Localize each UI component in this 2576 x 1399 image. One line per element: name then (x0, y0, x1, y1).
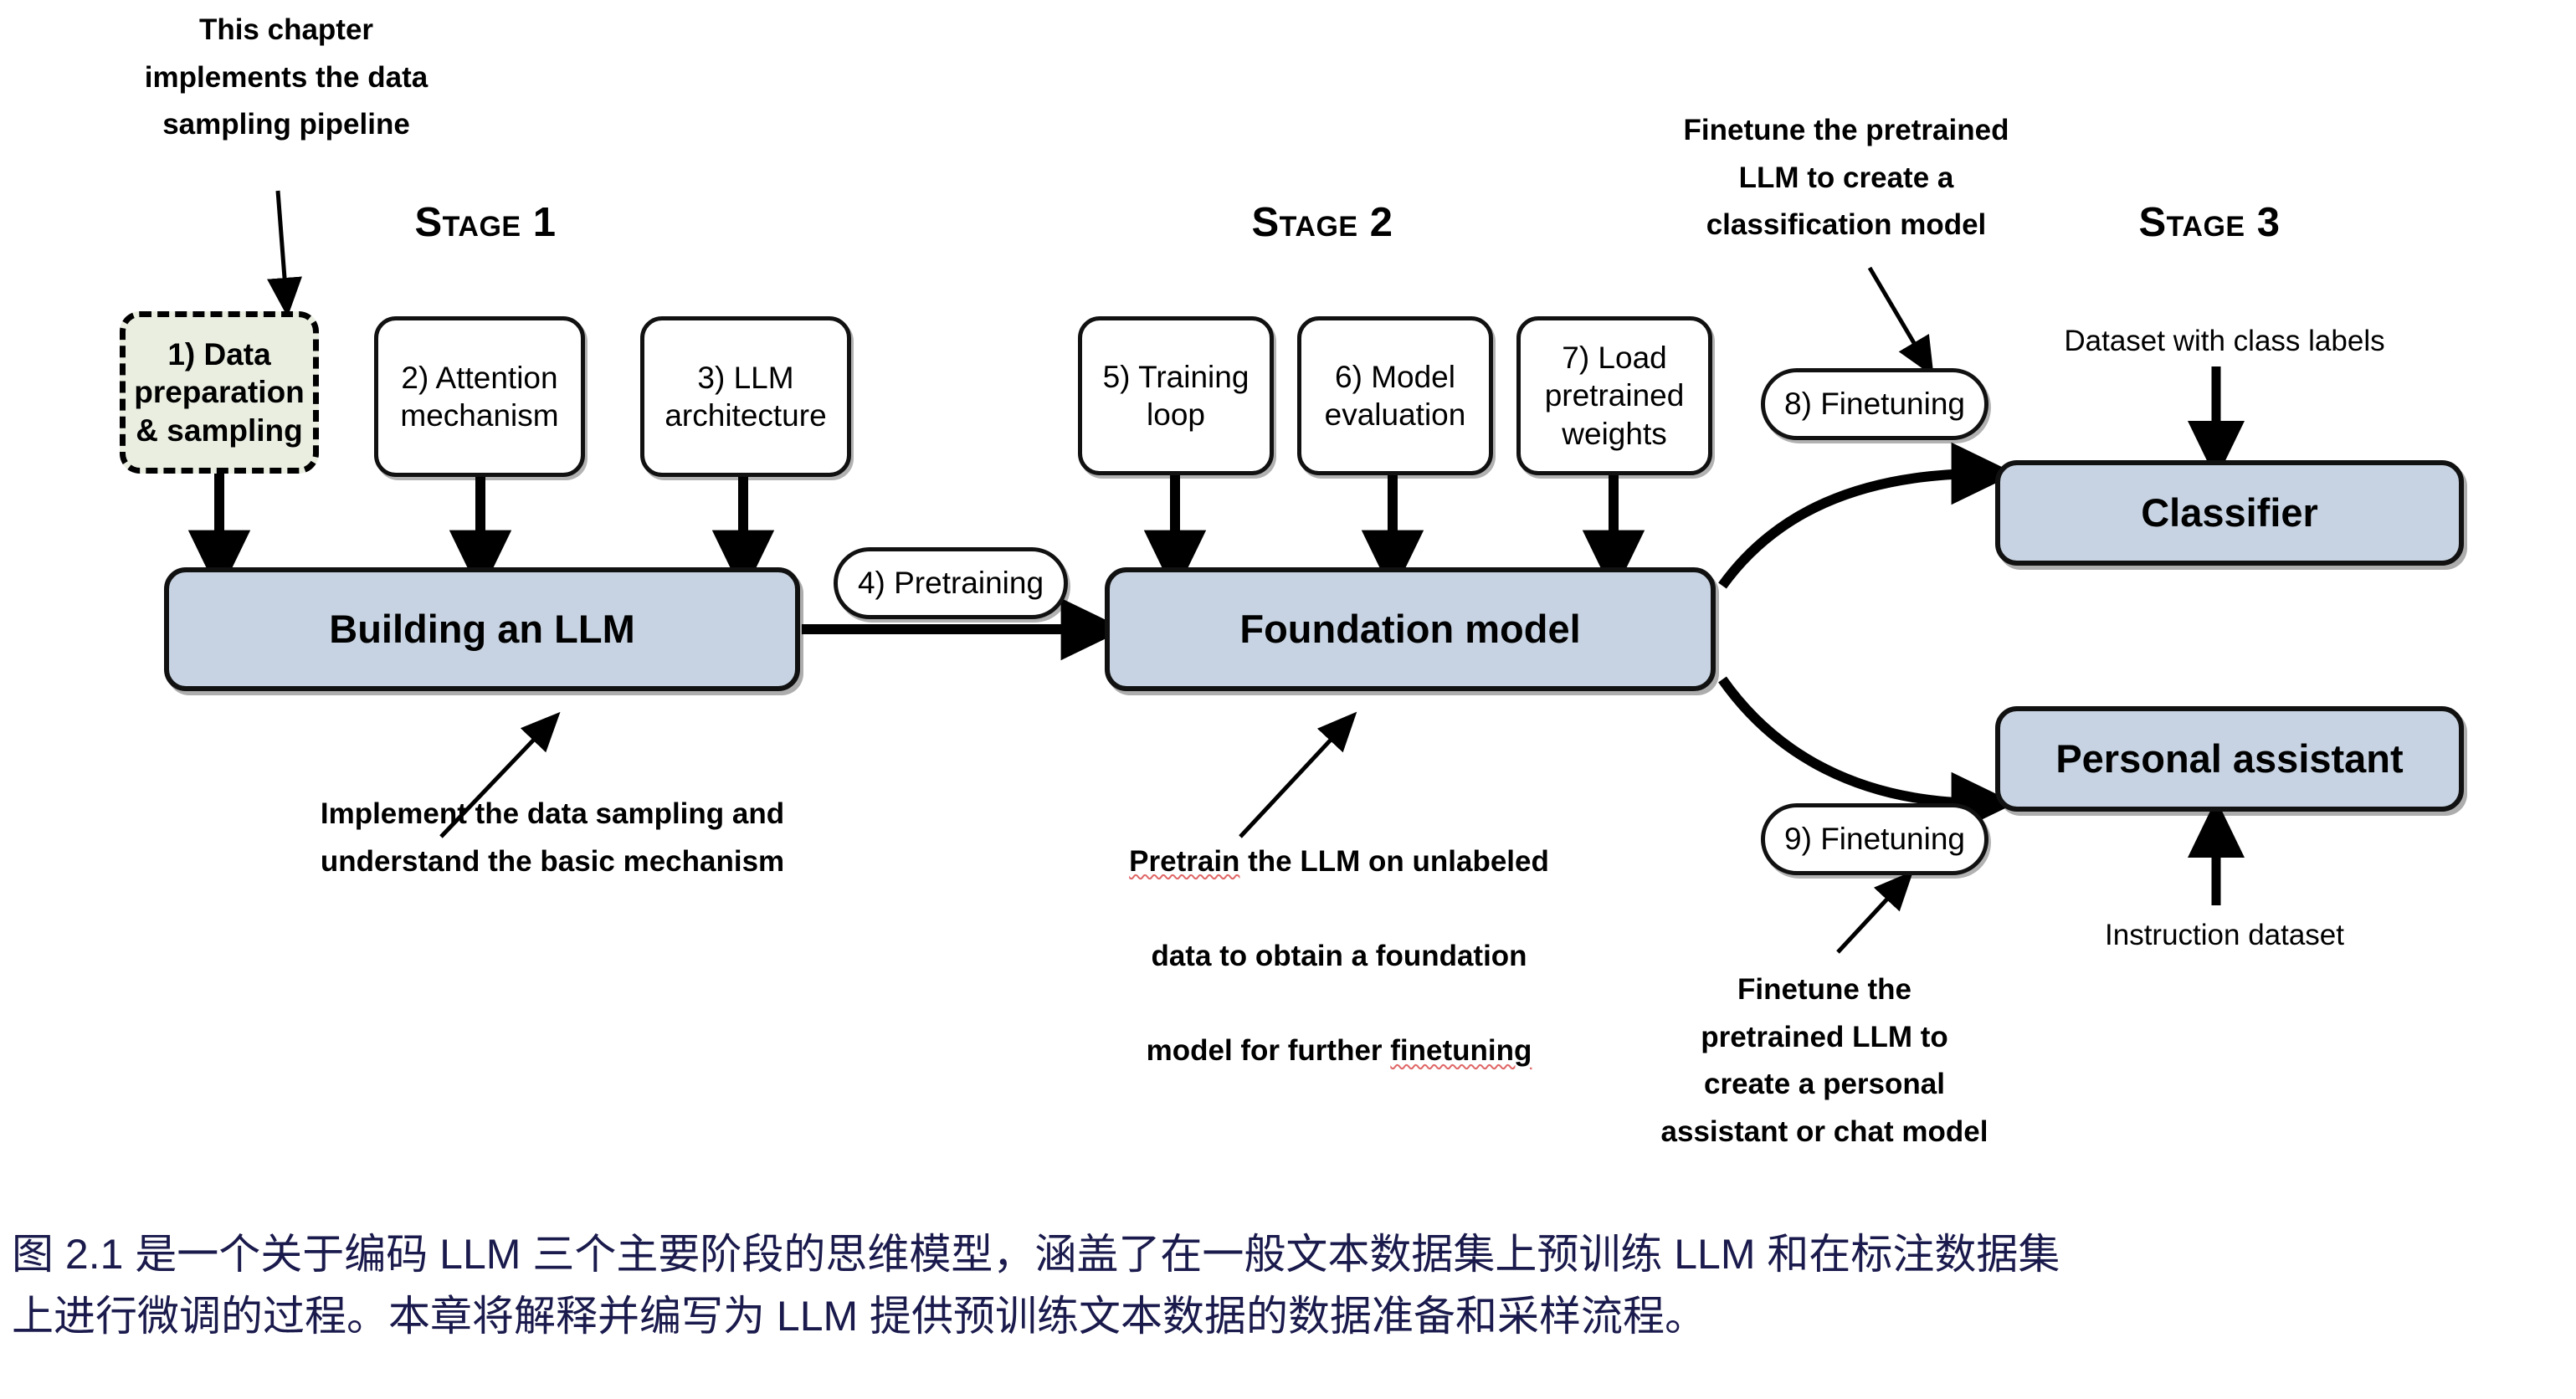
spellcheck-word-pretrain: Pretrain (1129, 845, 1239, 878)
box-load-pretrained-weights[interactable]: 7) Load pretrained weights (1516, 316, 1712, 475)
stage-label-1: Stage 1 (360, 199, 611, 246)
annotation-pretrain-foundation-model: Pretrain the LLM on unlabeled data to ob… (1071, 791, 1607, 1123)
caption-line-1: 图 2.1 是一个关于编码 LLM 三个主要阶段的思维模型，涵盖了在一般文本数据… (12, 1223, 2564, 1285)
arrow-foundation-model-to-classifier (1722, 474, 1983, 586)
pill-pretraining[interactable]: 4) Pretraining (834, 547, 1068, 619)
label-instruction-dataset: Instruction dataset (1999, 914, 2450, 958)
annotation-this-chapter: This chapter implements the data samplin… (127, 7, 445, 149)
annotation-finetune-personal-assistant: Finetune the pretrained LLM to create a … (1590, 966, 2059, 1156)
box-building-an-llm[interactable]: Building an LLM (164, 567, 800, 691)
spellcheck-word-finetuning: finetuning (1390, 1034, 1532, 1067)
arrow-foundation-model-to-personal-assistant (1722, 679, 1983, 803)
annotation-pretrain-line-1: Pretrain the LLM on unlabeled (1071, 838, 1607, 886)
annotation-pretrain-line-3: model for further finetuning (1071, 1027, 1607, 1075)
box-classifier[interactable]: Classifier (1995, 460, 2464, 566)
annotation-pretrain-line-1-rest: the LLM on unlabeled (1239, 845, 1548, 878)
label-dataset-with-class-labels: Dataset with class labels (1999, 320, 2450, 364)
annotation-pretrain-line-2: data to obtain a foundation (1071, 933, 1607, 981)
arrow-finetune-personal-assistant-note (1838, 884, 1901, 952)
pill-finetuning-9[interactable]: 9) Finetuning (1761, 803, 1988, 875)
annotation-finetune-classification: Finetune the pretrained LLM to create a … (1645, 107, 2047, 249)
figure-caption: 图 2.1 是一个关于编码 LLM 三个主要阶段的思维模型，涵盖了在一般文本数据… (12, 1223, 2564, 1347)
stage-label-3: Stage 3 (2084, 199, 2335, 246)
box-training-loop[interactable]: 5) Training loop (1078, 316, 1274, 475)
box-llm-architecture[interactable]: 3) LLM architecture (640, 316, 851, 477)
box-foundation-model[interactable]: Foundation model (1105, 567, 1716, 691)
annotation-implement-data-sampling: Implement the data sampling and understa… (259, 791, 845, 885)
annotation-pretrain-line-3-start: model for further (1147, 1034, 1391, 1067)
pill-finetuning-8[interactable]: 8) Finetuning (1761, 368, 1988, 440)
caption-line-2: 上进行微调的过程。本章将解释并编写为 LLM 提供预训练文本数据的数据准备和采样… (12, 1285, 2564, 1347)
box-attention-mechanism[interactable]: 2) Attention mechanism (374, 316, 585, 477)
box-data-preparation-sampling[interactable]: 1) Data preparation & sampling (120, 311, 319, 474)
box-model-evaluation[interactable]: 6) Model evaluation (1297, 316, 1493, 475)
arrow-finetune-classification-note (1870, 268, 1925, 361)
box-personal-assistant[interactable]: Personal assistant (1995, 706, 2464, 812)
arrow-chapter-note-to-data-prep (278, 191, 286, 300)
stage-label-2: Stage 2 (1197, 199, 1448, 246)
llm-stages-diagram: This chapter implements the data samplin… (0, 0, 2576, 1213)
